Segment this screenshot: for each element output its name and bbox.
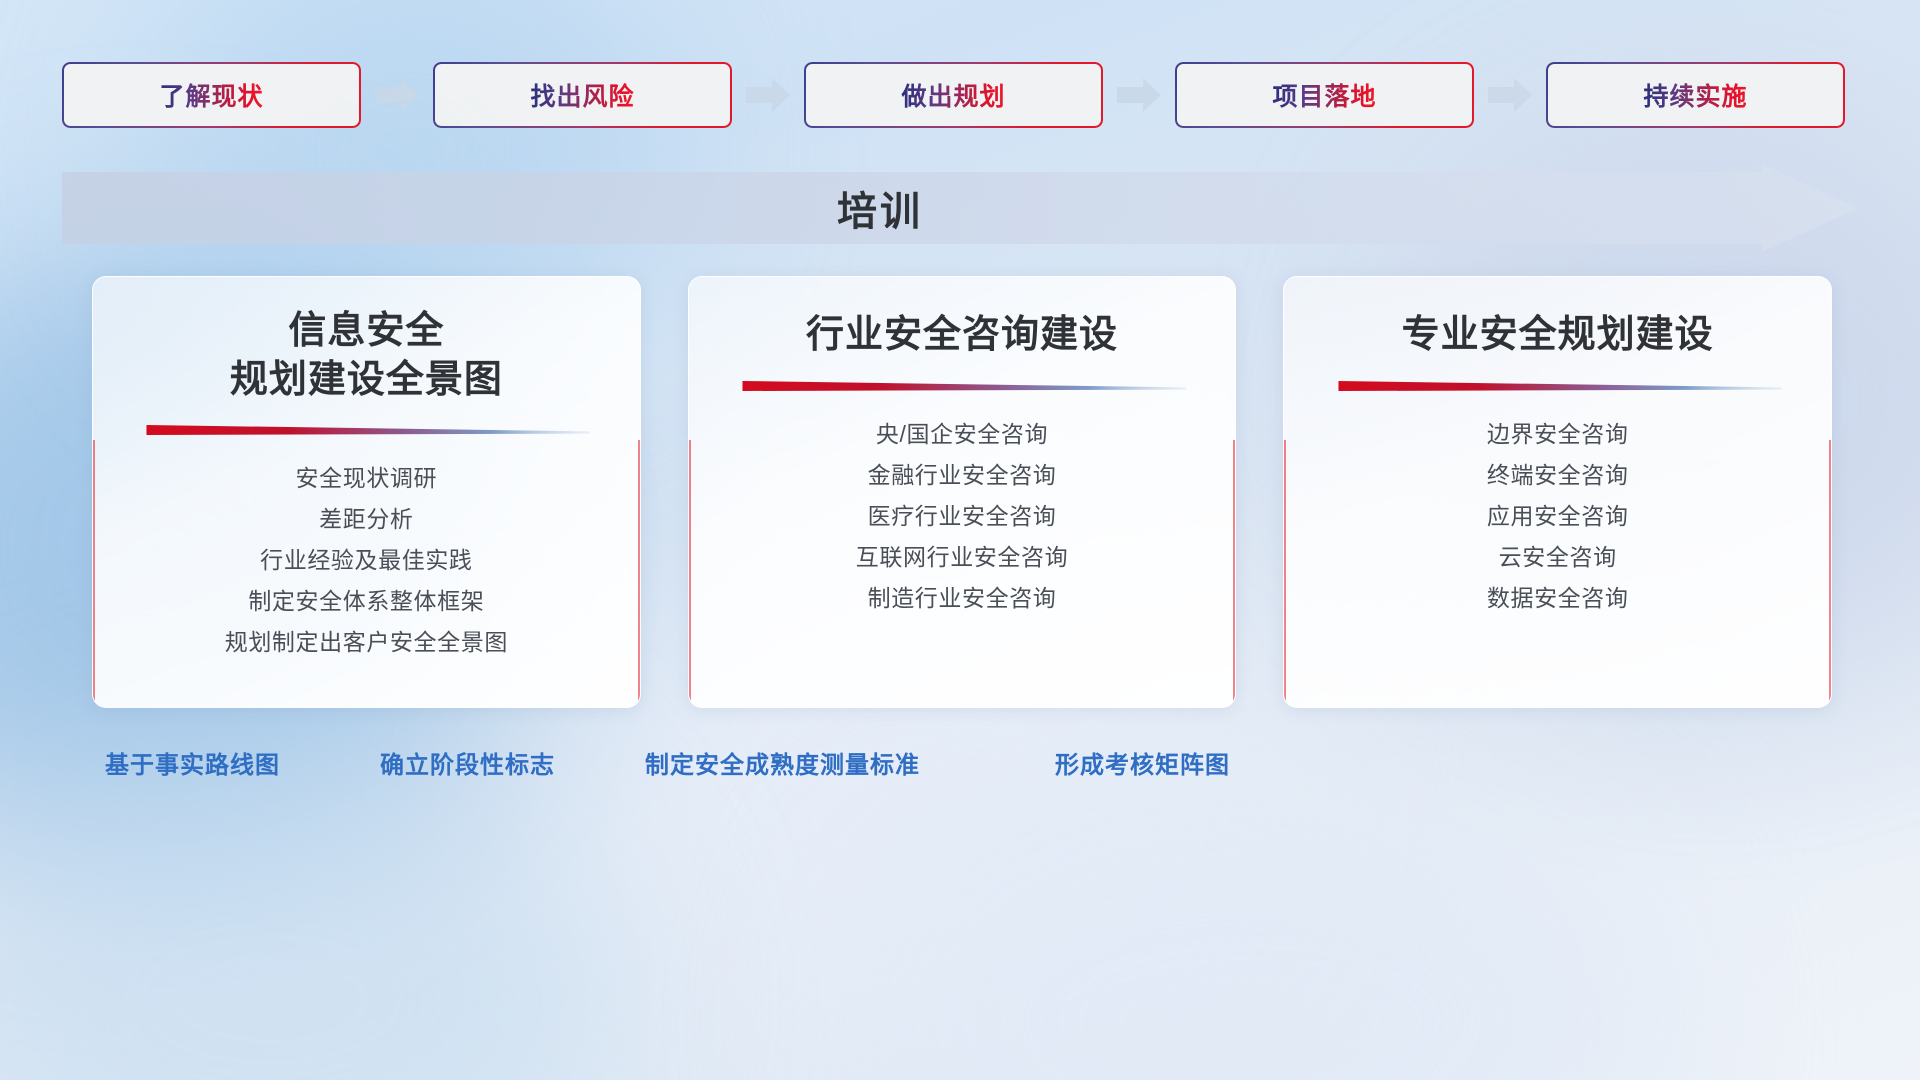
process-step-label: 找出风险 <box>530 77 634 113</box>
card-item-list: 边界安全咨询 终端安全咨询 应用安全咨询 云安全咨询 数据安全咨询 <box>1487 414 1629 619</box>
list-item: 应用安全咨询 <box>1487 496 1629 537</box>
banner-title: 培训 <box>62 164 1858 252</box>
card-group: 信息安全 规划建设全景图 安全现状调研 <box>92 276 1832 708</box>
card-divider <box>1334 378 1782 392</box>
process-flow: 了解现状 找出风险 做出规划 项目落地 <box>62 62 1858 128</box>
list-item: 数据安全咨询 <box>1487 578 1629 619</box>
process-step-1[interactable]: 了解现状 <box>62 62 361 128</box>
process-step-label: 项目落地 <box>1272 77 1376 113</box>
list-item: 制造行业安全咨询 <box>856 578 1068 619</box>
list-item: 差距分析 <box>225 499 508 540</box>
process-step-label: 了解现状 <box>159 77 263 113</box>
arrow-right-icon <box>1103 62 1175 128</box>
slide-canvas: 了解现状 找出风险 做出规划 项目落地 <box>0 0 1920 1080</box>
footnote-label: 确立阶段性标志 <box>380 745 555 780</box>
process-step-2[interactable]: 找出风险 <box>433 62 732 128</box>
list-item: 云安全咨询 <box>1487 537 1629 578</box>
card-item-list: 安全现状调研 差距分析 行业经验及最佳实践 制定安全体系整体框架 规划制定出客户… <box>225 458 508 663</box>
list-item: 边界安全咨询 <box>1487 414 1629 455</box>
arrow-right-icon <box>361 62 433 128</box>
card-professional-security-planning[interactable]: 专业安全规划建设 边界安全咨询 <box>1283 276 1832 708</box>
footnote-label: 制定安全成熟度测量标准 <box>645 745 920 780</box>
training-banner: 培训 <box>62 164 1858 252</box>
arrow-right-icon <box>1474 62 1546 128</box>
card-item-list: 央/国企安全咨询 金融行业安全咨询 医疗行业安全咨询 互联网行业安全咨询 制造行… <box>856 414 1068 619</box>
background-blob <box>840 760 1660 1080</box>
arrow-right-icon <box>732 62 804 128</box>
footnote-label: 基于事实路线图 <box>105 745 280 780</box>
list-item: 制定安全体系整体框架 <box>225 581 508 622</box>
process-step-4[interactable]: 项目落地 <box>1175 62 1474 128</box>
list-item: 终端安全咨询 <box>1487 455 1629 496</box>
list-item: 央/国企安全咨询 <box>856 414 1068 455</box>
card-title: 信息安全 规划建设全景图 <box>230 307 503 404</box>
list-item: 互联网行业安全咨询 <box>856 537 1068 578</box>
process-step-5[interactable]: 持续实施 <box>1546 62 1845 128</box>
card-divider <box>142 422 590 436</box>
card-title: 专业安全规划建设 <box>1402 311 1714 360</box>
card-information-security-blueprint[interactable]: 信息安全 规划建设全景图 安全现状调研 <box>92 276 641 708</box>
process-step-label: 做出规划 <box>901 77 1005 113</box>
card-title: 行业安全咨询建设 <box>806 311 1118 360</box>
footnote-row: 基于事实路线图 确立阶段性标志 制定安全成熟度测量标准 形成考核矩阵图 <box>0 745 1920 791</box>
background-blob <box>0 740 620 1080</box>
footnote-label: 形成考核矩阵图 <box>1055 745 1230 780</box>
process-step-3[interactable]: 做出规划 <box>804 62 1103 128</box>
card-divider <box>738 378 1186 392</box>
list-item: 医疗行业安全咨询 <box>856 496 1068 537</box>
list-item: 金融行业安全咨询 <box>856 455 1068 496</box>
list-item: 安全现状调研 <box>225 458 508 499</box>
process-step-label: 持续实施 <box>1643 77 1747 113</box>
list-item: 规划制定出客户安全全景图 <box>225 622 508 663</box>
list-item: 行业经验及最佳实践 <box>225 540 508 581</box>
card-industry-security-consulting[interactable]: 行业安全咨询建设 央/国企安全咨询 <box>688 276 1237 708</box>
